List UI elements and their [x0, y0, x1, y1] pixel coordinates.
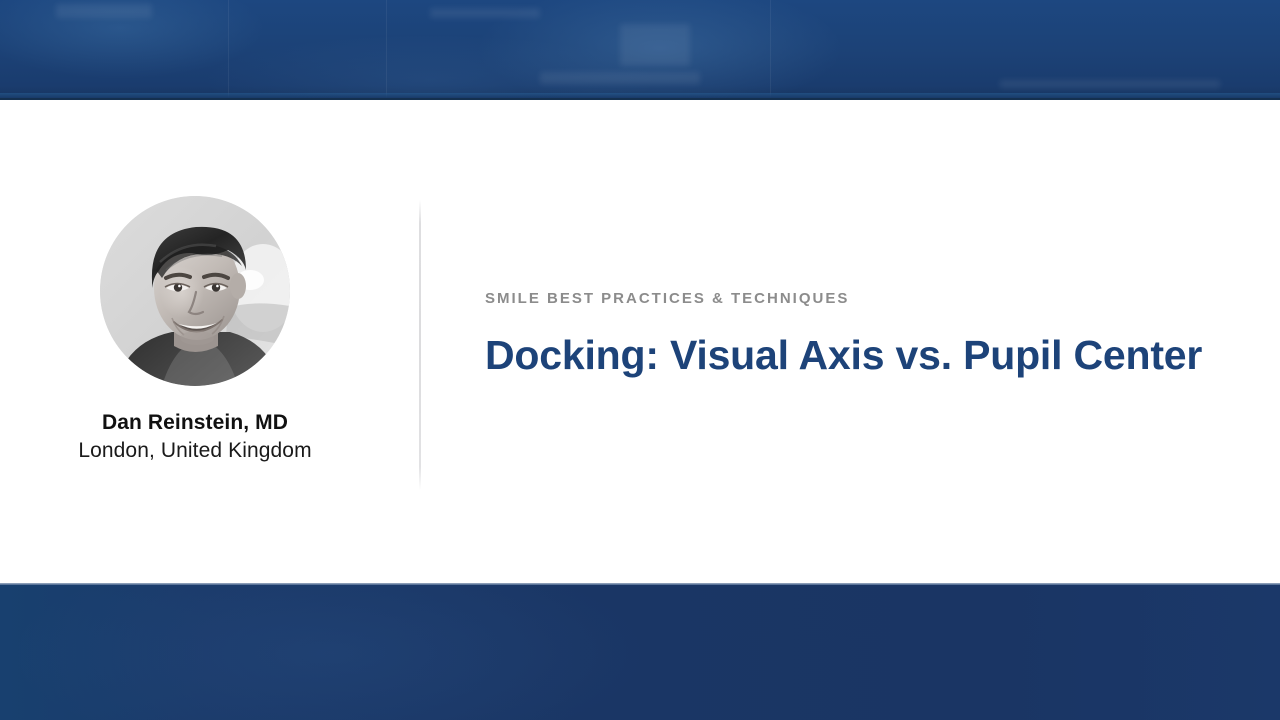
band-highlight	[430, 8, 540, 18]
title-block: SMILE BEST PRACTICES & TECHNIQUES Dockin…	[485, 290, 1280, 379]
band-highlight	[56, 4, 152, 18]
speaker-card: Dan Reinstein, MD London, United Kingdom	[16, 196, 374, 465]
band-highlight	[540, 72, 700, 84]
bottom-band-top-edge	[0, 583, 1280, 585]
portrait-photo-icon	[100, 196, 290, 386]
band-seam	[386, 0, 387, 100]
band-highlight	[1000, 80, 1220, 88]
vertical-divider	[419, 200, 421, 490]
slide-content: Dan Reinstein, MD London, United Kingdom…	[0, 100, 1280, 583]
slide-frame: Dan Reinstein, MD London, United Kingdom…	[0, 0, 1280, 720]
avatar	[100, 196, 290, 386]
top-video-band	[0, 0, 1280, 100]
band-highlight	[620, 24, 690, 66]
speaker-location: London, United Kingdom	[78, 438, 311, 464]
band-seam	[770, 0, 771, 100]
page-title: Docking: Visual Axis vs. Pupil Center	[485, 332, 1280, 379]
speaker-name: Dan Reinstein, MD	[102, 410, 288, 436]
bottom-band	[0, 583, 1280, 720]
series-eyebrow: SMILE BEST PRACTICES & TECHNIQUES	[485, 290, 1280, 307]
band-seam	[228, 0, 229, 100]
